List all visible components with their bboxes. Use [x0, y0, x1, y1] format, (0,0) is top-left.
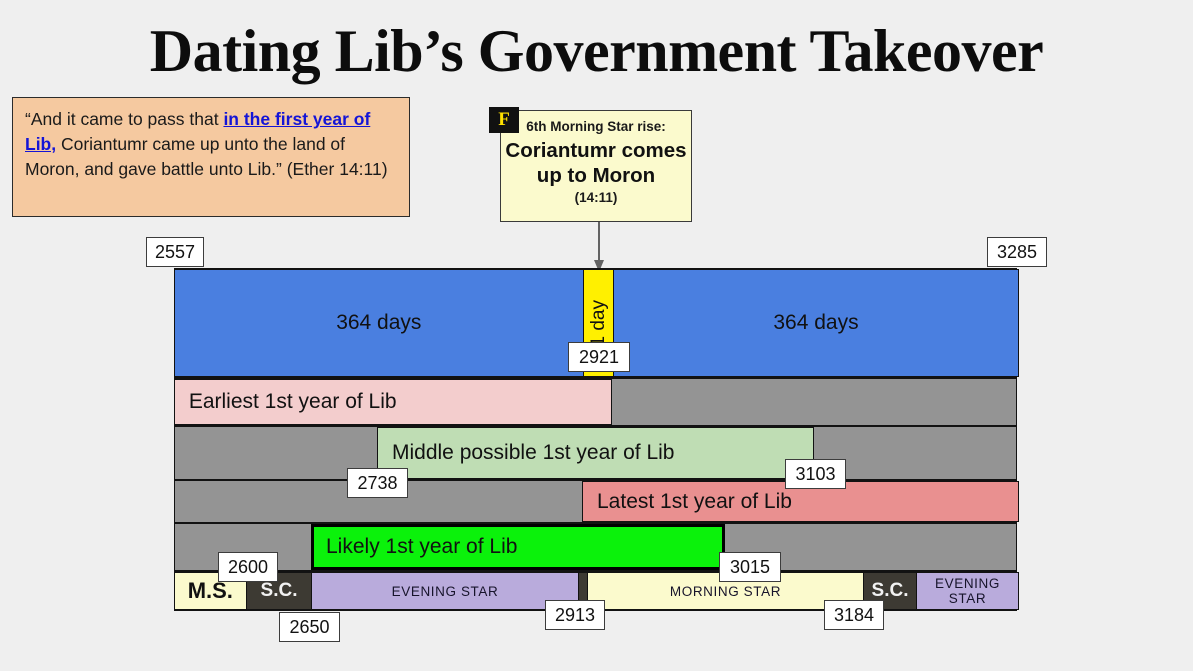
callout-subtitle: 6th Morning Star rise: [501, 119, 691, 135]
year-marker-2921: 2921 [568, 342, 630, 372]
segment-label-sc-right: S.C. [872, 580, 909, 602]
year-marker-2650: 2650 [279, 612, 340, 642]
segment-evening-star-right: EVENING STAR [916, 572, 1019, 610]
year-marker-3015: 3015 [719, 552, 781, 582]
callout-reference: (14:11) [501, 189, 691, 206]
row-latest-1st-year: Latest 1st year of Lib [174, 480, 1017, 523]
segment-middle-possible-1st-year: Middle possible 1st year of Lib [377, 427, 814, 479]
callout-arrow-icon [593, 222, 605, 272]
quote-rest-text: Coriantumr came up unto the land of Moro… [25, 134, 388, 179]
segment-likely-1st-year: Likely 1st year of Lib [311, 524, 725, 570]
callout-main-line2: up to Moron [501, 163, 691, 188]
segment-label-likely: Likely 1st year of Lib [326, 535, 517, 559]
page-title: Dating Lib’s Government Takeover [0, 16, 1193, 86]
year-marker-2913: 2913 [545, 600, 605, 630]
row-middle-possible-1st-year: Middle possible 1st year of Lib [174, 426, 1017, 480]
year-marker-3184: 3184 [824, 600, 884, 630]
segment-label-evening-left: EVENING STAR [392, 584, 499, 599]
callout-main-line1: Coriantumr comes [501, 138, 691, 163]
year-marker-2557: 2557 [146, 237, 204, 267]
segment-label-364-days-right: 364 days [773, 311, 858, 335]
year-marker-2738: 2738 [347, 468, 408, 498]
segment-label-evening-right: EVENING STAR [917, 576, 1018, 606]
row-likely-1st-year: Likely 1st year of Lib [174, 523, 1017, 571]
segment-earliest-1st-year: Earliest 1st year of Lib [174, 379, 612, 425]
callout-badge-f: F [489, 107, 519, 133]
quote-lead-text: “And it came to pass that [25, 109, 223, 129]
segment-364-days-left: 364 days [174, 269, 584, 377]
year-marker-3285: 3285 [987, 237, 1047, 267]
segment-label-one-day: 1 day [588, 300, 610, 346]
segment-label-latest: Latest 1st year of Lib [597, 490, 792, 514]
segment-label-middle: Middle possible 1st year of Lib [392, 441, 675, 465]
segment-evening-star-left: EVENING STAR [311, 572, 579, 610]
event-callout-box: 6th Morning Star rise: Coriantumr comes … [500, 110, 692, 222]
slide-canvas: Dating Lib’s Government Takeover “And it… [0, 0, 1193, 671]
segment-label-morning: MORNING STAR [670, 584, 781, 599]
segment-label-sc-left: S.C. [261, 580, 298, 602]
year-marker-3103: 3103 [785, 459, 846, 489]
segment-label-364-days-left: 364 days [336, 311, 421, 335]
scripture-quote-box: “And it came to pass that in the first y… [12, 97, 410, 217]
year-marker-2600: 2600 [218, 552, 278, 582]
row-earliest-1st-year: Earliest 1st year of Lib [174, 378, 1017, 426]
segment-label-earliest: Earliest 1st year of Lib [189, 390, 397, 414]
segment-364-days-right: 364 days [613, 269, 1019, 377]
